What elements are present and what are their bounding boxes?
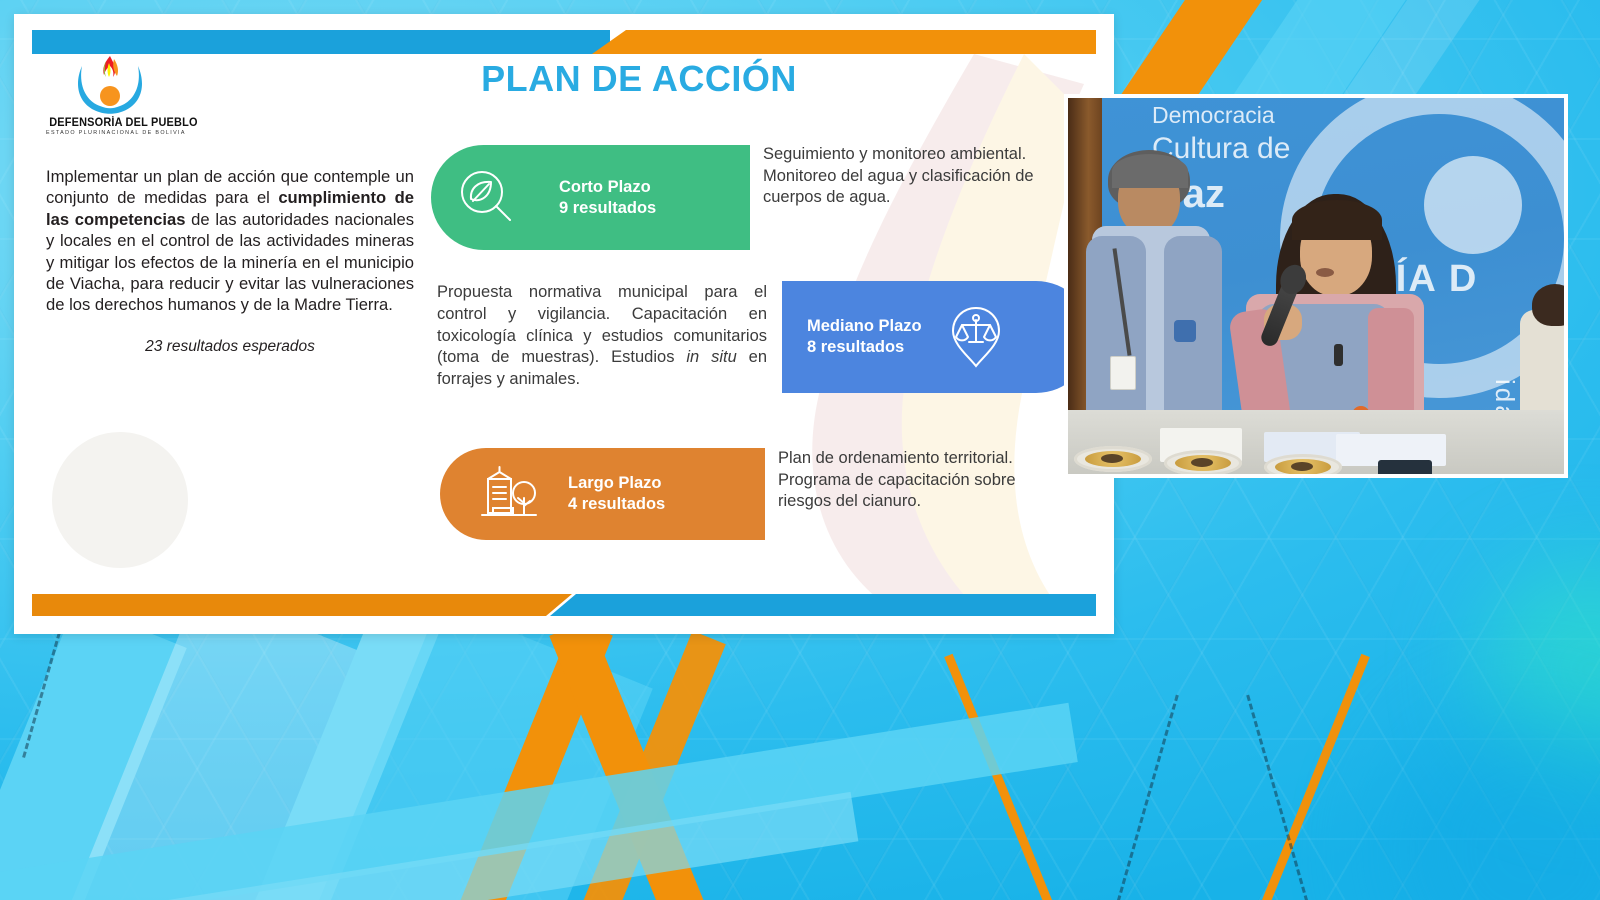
- page-title: PLAN DE ACCIÓN: [314, 58, 964, 100]
- bottom-bar-orange-segment: [32, 594, 572, 616]
- badge-corto-label: Corto Plazo: [559, 177, 656, 198]
- logo-name-line2: ESTADO PLURINACIONAL DE BOLIVIA: [46, 130, 174, 136]
- mediano-desc-line3a: Estudios: [611, 348, 686, 366]
- objective-column: Implementar un plan de acción que contem…: [46, 166, 414, 356]
- bottom-bar-blue-segment: [550, 594, 1096, 616]
- backdrop-text-democracia: Democracia: [1152, 102, 1275, 129]
- badge-mediano-text: Mediano Plazo 8 resultados: [807, 316, 922, 358]
- badge-corto-text: Corto Plazo 9 resultados: [559, 177, 656, 219]
- food-1: [1085, 451, 1141, 467]
- slide-bottom-bar: [32, 594, 1096, 616]
- presentation-slide: DEFENSORÍA DEL PUEBLO ESTADO PLURINACION…: [14, 14, 1114, 634]
- scales-pin-icon: [946, 304, 1006, 370]
- leaf-magnifier-icon: [453, 165, 519, 231]
- badge-mediano-plazo[interactable]: Mediano Plazo 8 resultados: [782, 281, 1092, 393]
- top-bar-orange-segment: [592, 30, 1096, 54]
- objective-text: Implementar un plan de acción que contem…: [46, 166, 414, 316]
- defensoria-logo: DEFENSORÍA DEL PUEBLO ESTADO PLURINACION…: [46, 54, 174, 136]
- mediano-desc-italic: in situ: [686, 348, 736, 366]
- food-3: [1275, 459, 1331, 475]
- device-on-table: [1378, 460, 1432, 478]
- defensoria-logo-icon: [46, 54, 174, 116]
- badge-largo-label: Largo Plazo: [568, 473, 665, 494]
- badge-corto-results: 9 resultados: [559, 198, 656, 219]
- largo-plazo-description: Plan de ordenamiento territorial. Progra…: [778, 448, 1068, 513]
- expected-results-summary: 23 resultados esperados: [46, 338, 414, 356]
- mediano-plazo-description: Propuesta normativa municipal para el co…: [437, 282, 767, 391]
- badge-mediano-results: 8 resultados: [807, 337, 922, 358]
- badge-largo-plazo[interactable]: Largo Plazo 4 resultados: [440, 448, 765, 540]
- badge-corto-plazo[interactable]: Corto Plazo 9 resultados: [431, 145, 750, 250]
- watermark-logo-dot: [52, 432, 188, 568]
- building-tree-icon: [478, 465, 540, 523]
- top-bar-blue-segment: [32, 30, 610, 54]
- badge-mediano-label: Mediano Plazo: [807, 316, 922, 337]
- logo-name-line1: DEFENSORÍA DEL PUEBLO: [49, 117, 171, 129]
- food-2: [1175, 455, 1231, 471]
- badge-largo-results: 4 resultados: [568, 494, 665, 515]
- slide-top-bar: [32, 30, 1096, 54]
- corto-plazo-description: Seguimiento y monitoreo ambiental. Monit…: [763, 144, 1083, 209]
- backdrop-logo-core: [1424, 156, 1522, 254]
- video-overlay[interactable]: Democracia Cultura de Paz NSORÍA D URINA…: [1064, 94, 1568, 478]
- badge-largo-text: Largo Plazo 4 resultados: [568, 473, 665, 515]
